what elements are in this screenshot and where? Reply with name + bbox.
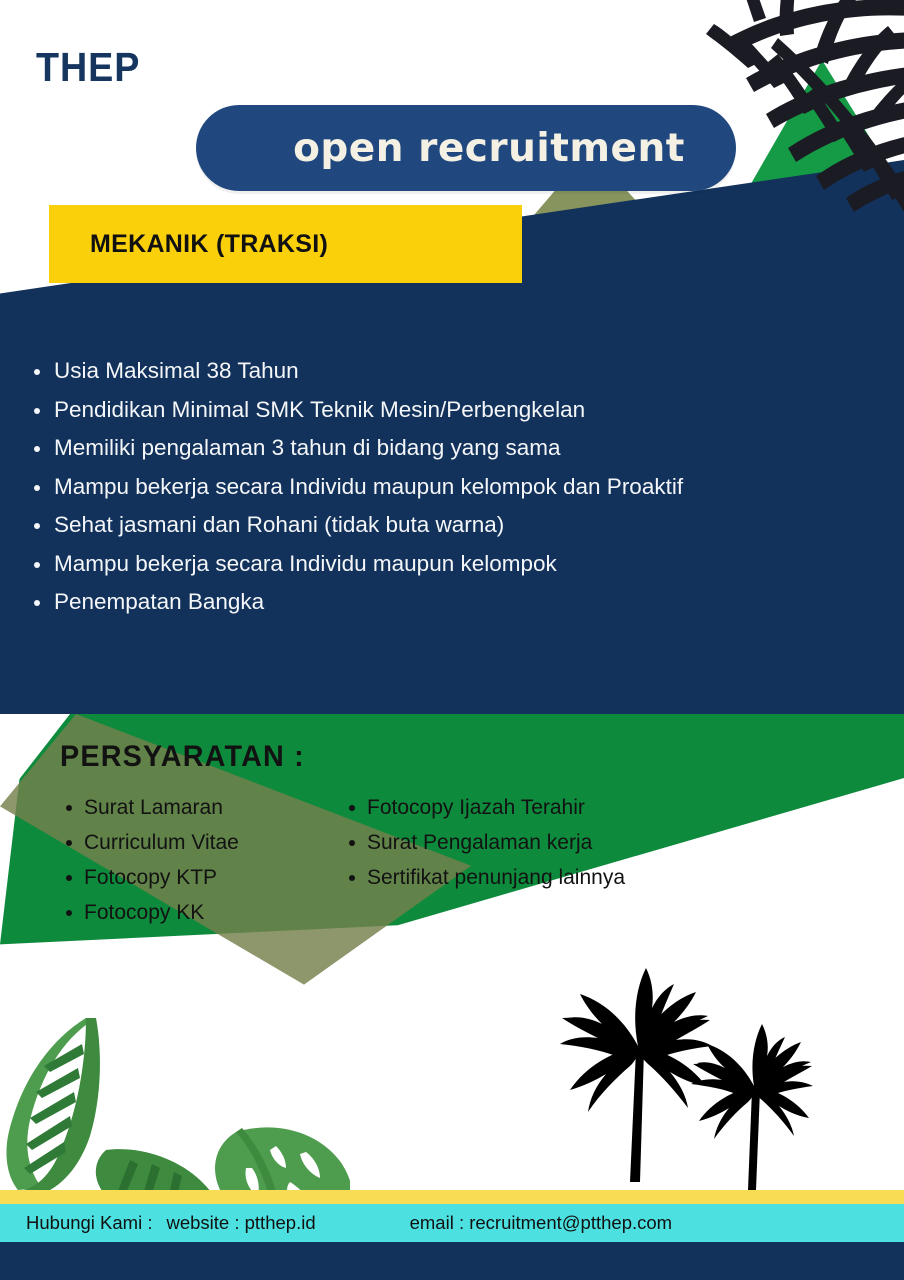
list-item: Fotocopy KTP — [62, 860, 239, 895]
email-text[interactable]: email : recruitment@ptthep.com — [410, 1212, 672, 1234]
list-item: Penempatan Bangka — [26, 583, 856, 622]
list-item: Surat Lamaran — [62, 790, 239, 825]
footer-yellow-strip — [0, 1190, 904, 1204]
list-item: Sehat jasmani dan Rohani (tidak buta war… — [26, 506, 856, 545]
requirements-left-column: Surat Lamaran Curriculum Vitae Fotocopy … — [62, 790, 239, 930]
list-item: Fotocopy KK — [62, 895, 239, 930]
palm-tree-icon — [480, 900, 880, 1192]
requirements-right-column: Fotocopy Ijazah Terahir Surat Pengalaman… — [345, 790, 625, 895]
list-item: Mampu bekerja secara Individu maupun kel… — [26, 545, 856, 584]
tropical-leaves-icon — [0, 1000, 350, 1200]
list-item: Fotocopy Ijazah Terahir — [345, 790, 625, 825]
position-title: MEKANIK (TRAKSI) — [49, 205, 522, 283]
website-text[interactable]: website : ptthep.id — [166, 1212, 315, 1234]
list-item: Surat Pengalaman kerja — [345, 825, 625, 860]
qualifications-list: Usia Maksimal 38 Tahun Pendidikan Minima… — [26, 352, 856, 622]
footer-navy-strip — [0, 1242, 904, 1280]
poster-title: open recruitment — [196, 105, 736, 191]
recruitment-poster: THEP open recruitment MEKANIK (TRAKSI) U… — [0, 0, 904, 1280]
footer-contact-row: Hubungi Kami : website : ptthep.id email… — [0, 1204, 904, 1242]
contact-label: Hubungi Kami : — [26, 1212, 152, 1234]
list-item: Curriculum Vitae — [62, 825, 239, 860]
brand-logo: THEP — [36, 44, 140, 91]
requirements-title: PERSYARATAN : — [60, 740, 305, 774]
list-item: Memiliki pengalaman 3 tahun di bidang ya… — [26, 429, 856, 468]
list-item: Mampu bekerja secara Individu maupun kel… — [26, 468, 856, 507]
list-item: Pendidikan Minimal SMK Teknik Mesin/Perb… — [26, 391, 856, 430]
list-item: Usia Maksimal 38 Tahun — [26, 352, 856, 391]
list-item: Sertifikat penunjang lainnya — [345, 860, 625, 895]
